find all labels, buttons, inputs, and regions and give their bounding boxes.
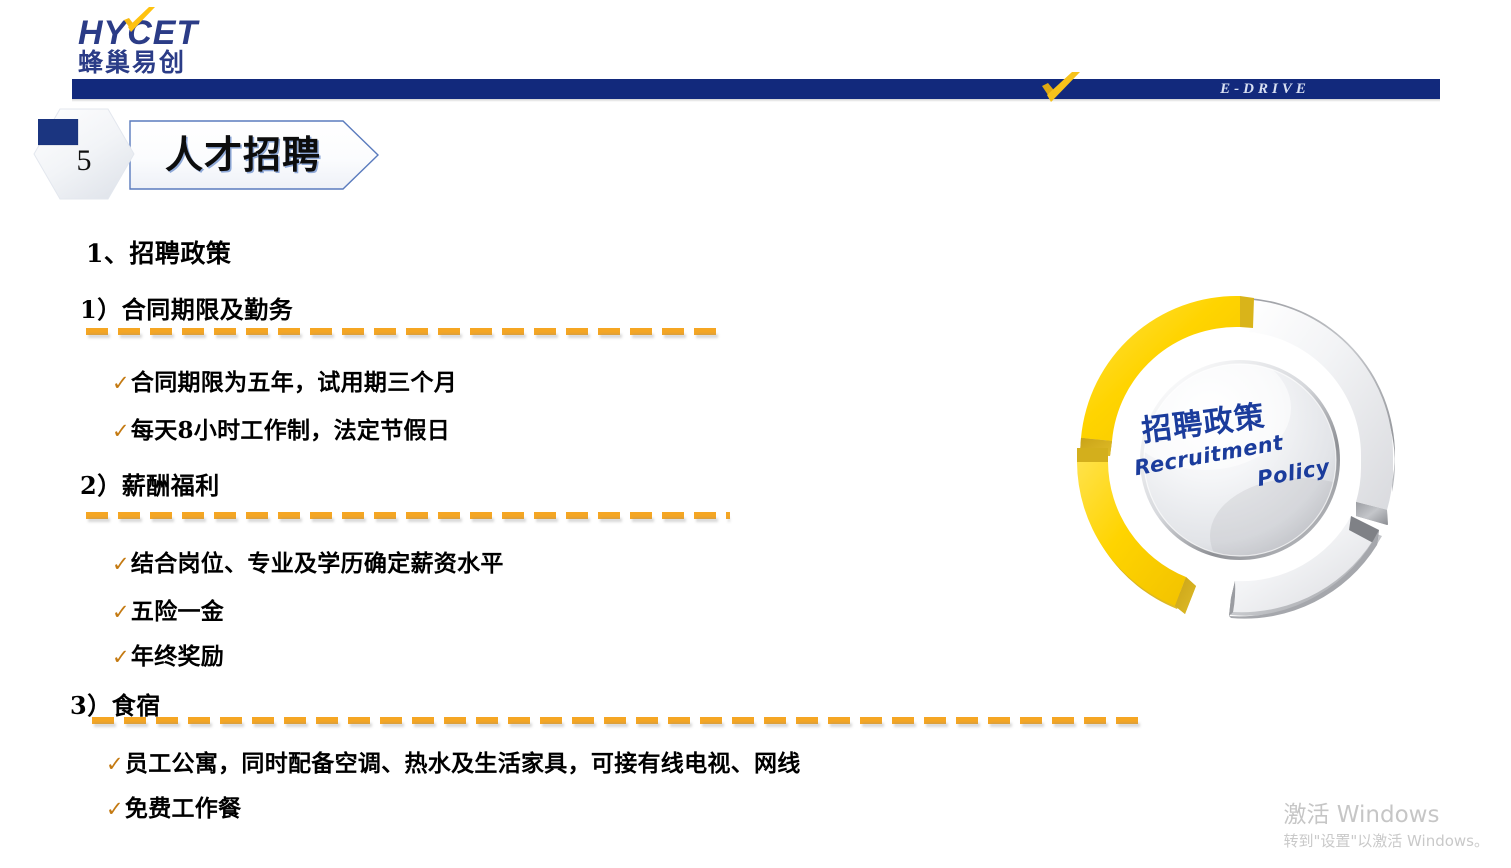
list-item-text: 员工公寓，同时配备空调、热水及生活家具，可接有线电视、网线 xyxy=(125,750,801,777)
slide-canvas: HYCET 蜂巢易创 E-DRIVE xyxy=(0,0,1511,868)
list-item-text: 五险一金 xyxy=(131,598,224,625)
divider-dashed-2 xyxy=(86,512,730,519)
header-check-accent-icon xyxy=(1036,72,1082,106)
divider-dashed-1 xyxy=(86,328,722,335)
check-bullet-icon: ✓ xyxy=(106,752,124,776)
list-item: ✓年终奖励 xyxy=(112,637,224,671)
list-item: ✓免费工作餐 xyxy=(106,789,241,823)
watermark-line-1: 激活 Windows xyxy=(1283,800,1489,830)
logo-wordmark-text: HYCET xyxy=(78,14,198,52)
list-item-text: 每天8小时工作制，法定节假日 xyxy=(131,417,450,444)
header-edrive-label: E-DRIVE xyxy=(1150,79,1380,99)
check-bullet-icon: ✓ xyxy=(112,371,130,395)
check-bullet-icon: ✓ xyxy=(112,600,130,624)
list-item-text: 合同期限为五年，试用期三个月 xyxy=(131,369,457,396)
divider-dashed-3 xyxy=(92,717,1140,724)
content-heading: 1、招聘政策 xyxy=(86,234,231,270)
company-logo: HYCET 蜂巢易创 xyxy=(78,16,258,80)
group-label-3: 3）食宿 xyxy=(70,686,161,721)
recruitment-policy-ring-graphic xyxy=(1055,268,1425,648)
group-label-1: 1）合同期限及勤务 xyxy=(80,290,293,325)
group-label-2: 2）薪酬福利 xyxy=(80,466,220,501)
list-item-text: 结合岗位、专业及学历确定薪资水平 xyxy=(131,550,504,577)
list-item: ✓结合岗位、专业及学历确定薪资水平 xyxy=(112,544,504,578)
section-title: 人才招聘 xyxy=(165,127,321,183)
check-bullet-icon: ✓ xyxy=(112,419,130,443)
header-bar-shadow xyxy=(72,99,1440,102)
list-item: ✓合同期限为五年，试用期三个月 xyxy=(112,363,457,397)
list-item: ✓五险一金 xyxy=(112,592,224,626)
list-item: ✓每天8小时工作制，法定节假日 xyxy=(112,411,450,445)
logo-sub-text: 蜂巢易创 xyxy=(78,49,258,77)
windows-activation-watermark: 激活 Windows 转到"设置"以激活 Windows。 xyxy=(1283,800,1489,852)
section-number: 5 xyxy=(30,107,138,202)
logo-wordmark: HYCET xyxy=(78,16,258,50)
check-bullet-icon: ✓ xyxy=(112,645,130,669)
watermark-line-2: 转到"设置"以激活 Windows。 xyxy=(1283,830,1489,852)
list-item: ✓员工公寓，同时配备空调、热水及生活家具，可接有线电视、网线 xyxy=(106,744,801,778)
check-bullet-icon: ✓ xyxy=(112,552,130,576)
list-item-text: 年终奖励 xyxy=(131,643,224,670)
list-item-text: 免费工作餐 xyxy=(125,795,242,822)
check-bullet-icon: ✓ xyxy=(106,797,124,821)
